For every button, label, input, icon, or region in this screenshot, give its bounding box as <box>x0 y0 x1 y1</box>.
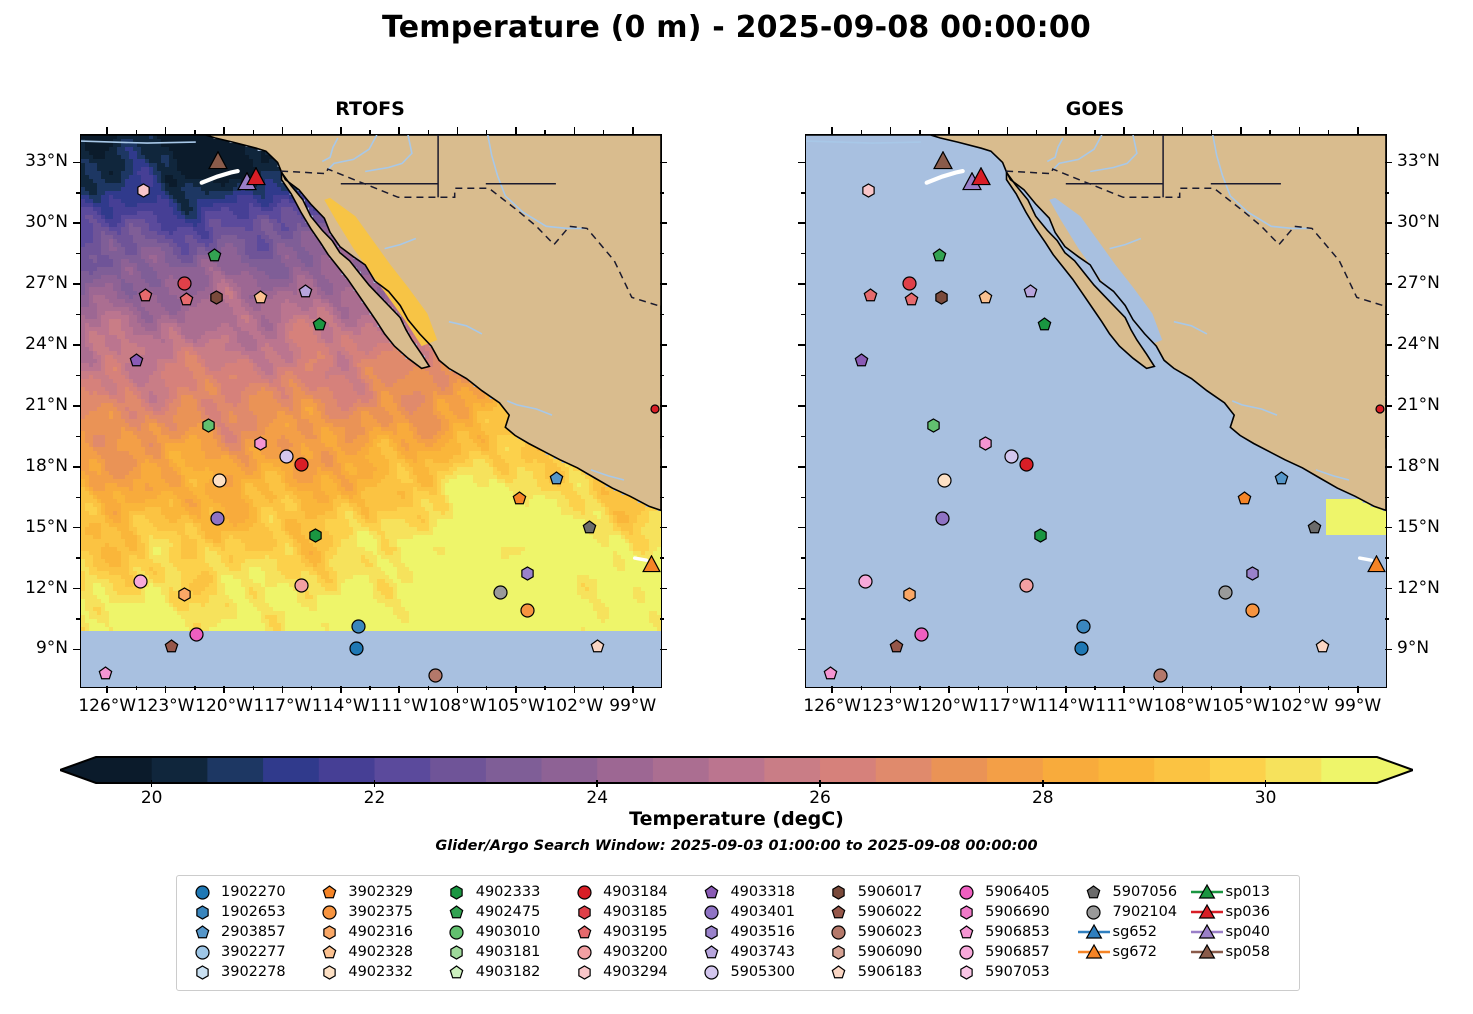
legend-column-9: sp013sp036sp040sp058 <box>1190 882 1292 984</box>
legend-symbol-5906405-icon <box>949 882 983 902</box>
colorbar-tick-label-20: 20 <box>141 788 163 808</box>
legend-label-2903857: 2903857 <box>221 924 286 940</box>
lat-tick-27 <box>73 283 80 285</box>
lon-tick--120 <box>948 686 950 693</box>
legend-item-5907056[interactable]: 5907056 <box>1077 882 1190 902</box>
legend-item-4902328[interactable]: 4902328 <box>312 942 439 962</box>
legend-label-4902333: 4902333 <box>476 884 541 900</box>
figure-title: Temperature (0 m) - 2025-09-08 00:00:00 <box>0 10 1473 45</box>
lon-tick-top--123 <box>890 127 892 134</box>
lat-tick-right-24 <box>1385 344 1392 346</box>
legend-column-8: 59070567902104sg652sg672 <box>1077 882 1190 984</box>
legend-column-5: 49033184903401490351649037435905300 <box>694 882 821 984</box>
legend-item-sp040[interactable]: sp040 <box>1190 922 1292 942</box>
lat-label-right-15: 15°N <box>1397 517 1473 537</box>
legend-label-1902270: 1902270 <box>221 884 286 900</box>
lon-tick--117 <box>1007 686 1009 693</box>
legend-label-sp058: sp058 <box>1226 944 1270 960</box>
legend-symbol-4903010-icon <box>440 922 474 942</box>
lon-tick-top--105 <box>515 127 517 134</box>
legend-item-5906022[interactable]: 5906022 <box>822 902 949 922</box>
legend-symbol-4902332-icon <box>312 962 346 982</box>
legend-symbol-5906690-icon <box>949 902 983 922</box>
lon-minor-tick <box>1153 686 1154 690</box>
lat-minor-tick <box>76 192 80 193</box>
lon-tick--105 <box>515 686 517 693</box>
lon-minor-tick <box>1328 686 1329 690</box>
lat-tick-21 <box>798 405 805 407</box>
colorbar-tick-label-22: 22 <box>364 788 386 808</box>
colorbar-tick-labels: 202224262830 <box>60 786 1413 808</box>
lon-tick-top--126 <box>831 127 833 134</box>
lat-minor-tick <box>660 497 664 498</box>
map-panel-goes[interactable] <box>805 134 1387 688</box>
lat-label-right-30: 30°N <box>1397 212 1473 232</box>
legend-symbol-4902316-icon <box>312 922 346 942</box>
lat-tick-right-33 <box>1385 162 1392 164</box>
legend-symbol-sg672-icon <box>1077 942 1111 962</box>
lon-tick--111 <box>1123 686 1125 693</box>
lat-tick-24 <box>798 344 805 346</box>
legend-label-5906405: 5906405 <box>985 884 1050 900</box>
legend-label-4903184: 4903184 <box>603 884 668 900</box>
legend-symbol-5907056-icon <box>1077 882 1111 902</box>
lat-tick-27 <box>798 283 805 285</box>
lat-minor-tick <box>76 557 80 558</box>
legend-symbol-2903857-icon <box>185 922 219 942</box>
map-panel-rtofs[interactable] <box>80 134 662 688</box>
lon-tick--120 <box>223 686 225 693</box>
lat-label-right-27: 27°N <box>1397 273 1473 293</box>
lat-tick-right-18 <box>660 466 667 468</box>
lon-tick--114 <box>340 686 342 693</box>
colorbar-tick-label-28: 28 <box>1032 788 1054 808</box>
legend-item-1902270[interactable]: 1902270 <box>185 882 312 902</box>
lon-minor-tick <box>1036 686 1037 690</box>
legend-item-3902375[interactable]: 3902375 <box>312 902 439 922</box>
lon-tick--123 <box>890 686 892 693</box>
legend-label-5905300: 5905300 <box>730 964 795 980</box>
lat-label-left-18: 18°N <box>0 456 68 476</box>
lon-tick--102 <box>574 686 576 693</box>
legend-symbol-4903181-icon <box>440 942 474 962</box>
lat-minor-tick <box>76 436 80 437</box>
legend-label-4902332: 4902332 <box>348 964 413 980</box>
glider-argo-legend[interactable]: 1902270190265329038573902277390227839023… <box>176 875 1300 991</box>
legend-label-4902475: 4902475 <box>476 904 541 920</box>
legend-symbol-5905300-icon <box>694 962 728 982</box>
legend-item-sg672[interactable]: sg672 <box>1077 942 1190 962</box>
lat-tick-12 <box>798 588 805 590</box>
lon-minor-tick <box>861 130 862 134</box>
lat-label-right-33: 33°N <box>1397 151 1473 171</box>
lon-label--99: 99°W <box>589 696 677 716</box>
lon-tick-top--117 <box>1007 127 1009 134</box>
legend-item-5906857[interactable]: 5906857 <box>949 942 1076 962</box>
legend-label-4903743: 4903743 <box>730 944 795 960</box>
lat-label-left-21: 21°N <box>0 395 68 415</box>
legend-label-5906183: 5906183 <box>858 964 923 980</box>
lat-label-left-9: 9°N <box>0 638 68 658</box>
lon-tick-top--111 <box>398 127 400 134</box>
legend-label-4903318: 4903318 <box>730 884 795 900</box>
lon-tick-top--102 <box>1299 127 1301 134</box>
legend-label-sp040: sp040 <box>1226 924 1270 940</box>
legend-symbol-sp036-icon <box>1190 902 1224 922</box>
legend-label-4903401: 4903401 <box>730 904 795 920</box>
legend-column-7: 59064055906690590685359068575907053 <box>949 882 1076 984</box>
lat-tick-21 <box>73 405 80 407</box>
legend-symbol-sp040-icon <box>1190 922 1224 942</box>
legend-symbol-1902653-icon <box>185 902 219 922</box>
legend-item-5906090[interactable]: 5906090 <box>822 942 949 962</box>
lon-minor-tick <box>194 130 195 134</box>
lon-tick-top--114 <box>340 127 342 134</box>
lat-minor-tick <box>660 253 664 254</box>
lat-minor-tick <box>76 253 80 254</box>
lon-minor-tick <box>311 686 312 690</box>
lat-minor-tick <box>660 375 664 376</box>
lon-tick--108 <box>457 686 459 693</box>
lat-minor-tick <box>660 436 664 437</box>
lat-tick-30 <box>798 222 805 224</box>
lon-tick--126 <box>106 686 108 693</box>
legend-item-4903200[interactable]: 4903200 <box>567 942 694 962</box>
legend-symbol-4902333-icon <box>440 882 474 902</box>
legend-symbol-4903200-icon <box>567 942 601 962</box>
legend-item-5906183[interactable]: 5906183 <box>822 962 949 982</box>
lon-tick-top--108 <box>1182 127 1184 134</box>
legend-symbol-5906090-icon <box>822 942 856 962</box>
lat-minor-tick <box>1385 618 1389 619</box>
lat-minor-tick <box>660 314 664 315</box>
lat-tick-18 <box>73 466 80 468</box>
legend-symbol-5906853-icon <box>949 922 983 942</box>
lat-label-right-9: 9°N <box>1397 638 1473 658</box>
lat-tick-right-30 <box>1385 222 1392 224</box>
legend-item-4903318[interactable]: 4903318 <box>694 882 821 902</box>
lat-minor-tick <box>801 436 805 437</box>
lon-minor-tick <box>861 686 862 690</box>
lat-minor-tick <box>76 314 80 315</box>
legend-label-4902316: 4902316 <box>348 924 413 940</box>
legend-symbol-4902328-icon <box>312 942 346 962</box>
lon-minor-tick <box>978 686 979 690</box>
legend-label-5906857: 5906857 <box>985 944 1050 960</box>
lon-minor-tick <box>1269 130 1270 134</box>
legend-label-5907053: 5907053 <box>985 964 1050 980</box>
legend-symbol-3902278-icon <box>185 962 219 982</box>
lon-tick-top--120 <box>223 127 225 134</box>
lat-tick-12 <box>73 588 80 590</box>
legend-label-4903185: 4903185 <box>603 904 668 920</box>
lat-tick-18 <box>798 466 805 468</box>
legend-symbol-4903516-icon <box>694 922 728 942</box>
lon-minor-tick <box>1036 130 1037 134</box>
lat-label-left-27: 27°N <box>0 273 68 293</box>
legend-column-1: 19022701902653290385739022773902278 <box>185 882 312 984</box>
lat-label-right-24: 24°N <box>1397 334 1473 354</box>
legend-symbol-4903743-icon <box>694 942 728 962</box>
legend-label-5906023: 5906023 <box>858 924 923 940</box>
lat-minor-tick <box>660 192 664 193</box>
colorbar-tick <box>596 780 598 787</box>
legend-symbol-4902475-icon <box>440 902 474 922</box>
lat-tick-30 <box>73 222 80 224</box>
lat-minor-tick <box>76 375 80 376</box>
lat-tick-right-30 <box>660 222 667 224</box>
lat-minor-tick <box>1385 192 1389 193</box>
legend-item-sp036[interactable]: sp036 <box>1190 902 1292 922</box>
legend-label-5907056: 5907056 <box>1113 884 1178 900</box>
lat-label-left-30: 30°N <box>0 212 68 232</box>
lat-tick-right-24 <box>660 344 667 346</box>
legend-item-5905300[interactable]: 5905300 <box>694 962 821 982</box>
search-window-text: Glider/Argo Search Window: 2025-09-03 01… <box>0 838 1473 854</box>
lon-tick-top--120 <box>948 127 950 134</box>
legend-item-5906017[interactable]: 5906017 <box>822 882 949 902</box>
legend-label-5906690: 5906690 <box>985 904 1050 920</box>
panel-title-goes: GOES <box>805 98 1385 120</box>
legend-label-3902329: 3902329 <box>348 884 413 900</box>
legend-label-sg672: sg672 <box>1113 944 1157 960</box>
legend-item-3902278[interactable]: 3902278 <box>185 962 312 982</box>
legend-label-5906017: 5906017 <box>858 884 923 900</box>
lat-minor-tick <box>660 557 664 558</box>
lat-tick-33 <box>73 162 80 164</box>
legend-item-4902475[interactable]: 4902475 <box>440 902 567 922</box>
legend-symbol-3902329-icon <box>312 882 346 902</box>
lat-tick-right-12 <box>1385 588 1392 590</box>
lon-tick--99 <box>1357 686 1359 693</box>
legend-item-4903195[interactable]: 4903195 <box>567 922 694 942</box>
lat-minor-tick <box>801 618 805 619</box>
legend-item-4903010[interactable]: 4903010 <box>440 922 567 942</box>
legend-symbol-4903195-icon <box>567 922 601 942</box>
lat-minor-tick <box>660 618 664 619</box>
legend-label-4903294: 4903294 <box>603 964 668 980</box>
lon-tick-top--123 <box>165 127 167 134</box>
lon-minor-tick <box>253 686 254 690</box>
legend-item-4903294[interactable]: 4903294 <box>567 962 694 982</box>
lat-label-right-21: 21°N <box>1397 395 1473 415</box>
legend-item-4903185[interactable]: 4903185 <box>567 902 694 922</box>
legend-symbol-4903294-icon <box>567 962 601 982</box>
lat-minor-tick <box>1385 557 1389 558</box>
legend-item-4902332[interactable]: 4902332 <box>312 962 439 982</box>
legend-label-3902375: 3902375 <box>348 904 413 920</box>
lon-minor-tick <box>428 686 429 690</box>
legend-item-4903181[interactable]: 4903181 <box>440 942 567 962</box>
lon-minor-tick <box>1269 686 1270 690</box>
lat-label-left-24: 24°N <box>0 334 68 354</box>
legend-label-4903195: 4903195 <box>603 924 668 940</box>
lat-label-right-18: 18°N <box>1397 456 1473 476</box>
legend-item-sp058[interactable]: sp058 <box>1190 942 1292 962</box>
lat-tick-right-15 <box>1385 527 1392 529</box>
legend-symbol-7902104-icon <box>1077 902 1111 922</box>
lon-minor-tick <box>311 130 312 134</box>
lat-label-left-15: 15°N <box>0 517 68 537</box>
legend-label-3902277: 3902277 <box>221 944 286 960</box>
lon-minor-tick <box>978 130 979 134</box>
legend-label-5906090: 5906090 <box>858 944 923 960</box>
legend-item-4903743[interactable]: 4903743 <box>694 942 821 962</box>
lon-minor-tick <box>253 130 254 134</box>
legend-symbol-5906022-icon <box>822 902 856 922</box>
lat-minor-tick <box>801 253 805 254</box>
legend-label-7902104: 7902104 <box>1113 904 1178 920</box>
lat-minor-tick <box>801 314 805 315</box>
lon-tick-top--111 <box>1123 127 1125 134</box>
lat-minor-tick <box>801 557 805 558</box>
lat-tick-9 <box>73 649 80 651</box>
legend-item-5906405[interactable]: 5906405 <box>949 882 1076 902</box>
lat-minor-tick <box>801 375 805 376</box>
lat-minor-tick <box>76 497 80 498</box>
legend-label-4903516: 4903516 <box>730 924 795 940</box>
lon-tick--114 <box>1065 686 1067 693</box>
lat-minor-tick <box>1385 375 1389 376</box>
legend-label-1902653: 1902653 <box>221 904 286 920</box>
lat-tick-right-27 <box>1385 283 1392 285</box>
lon-tick-top--102 <box>574 127 576 134</box>
legend-column-3: 49023334902475490301049031814903182 <box>440 882 567 984</box>
legend-label-5906853: 5906853 <box>985 924 1050 940</box>
legend-item-7902104[interactable]: 7902104 <box>1077 902 1190 922</box>
legend-item-4902316[interactable]: 4902316 <box>312 922 439 942</box>
lat-minor-tick <box>1385 314 1389 315</box>
lat-tick-right-27 <box>660 283 667 285</box>
lon-minor-tick <box>1211 130 1212 134</box>
lat-minor-tick <box>1385 253 1389 254</box>
legend-item-3902329[interactable]: 3902329 <box>312 882 439 902</box>
legend-symbol-4903185-icon <box>567 902 601 922</box>
colorbar-tick <box>374 780 376 787</box>
lon-minor-tick <box>603 686 604 690</box>
legend-symbol-sg652-icon <box>1077 922 1111 942</box>
lon-minor-tick <box>369 130 370 134</box>
lon-minor-tick <box>919 130 920 134</box>
legend-item-5906690[interactable]: 5906690 <box>949 902 1076 922</box>
lon-tick--108 <box>1182 686 1184 693</box>
lat-minor-tick <box>801 497 805 498</box>
panel-title-rtofs: RTOFS <box>80 98 660 120</box>
lat-tick-33 <box>798 162 805 164</box>
lon-tick-top--117 <box>282 127 284 134</box>
lat-tick-9 <box>798 649 805 651</box>
legend-item-1902653[interactable]: 1902653 <box>185 902 312 922</box>
lon-tick-top--99 <box>1357 127 1359 134</box>
legend-symbol-4903318-icon <box>694 882 728 902</box>
lon-minor-tick <box>1094 686 1095 690</box>
lon-minor-tick <box>919 686 920 690</box>
lat-tick-right-18 <box>1385 466 1392 468</box>
legend-symbol-5906023-icon <box>822 922 856 942</box>
colorbar <box>60 755 1413 785</box>
legend-symbol-5906857-icon <box>949 942 983 962</box>
lon-tick-top--105 <box>1240 127 1242 134</box>
colorbar-tick <box>819 780 821 787</box>
legend-label-sp036: sp036 <box>1226 904 1270 920</box>
lon-minor-tick <box>603 130 604 134</box>
legend-symbol-1902270-icon <box>185 882 219 902</box>
lat-minor-tick <box>1385 436 1389 437</box>
lon-tick--123 <box>165 686 167 693</box>
lon-tick--117 <box>282 686 284 693</box>
legend-item-4903182[interactable]: 4903182 <box>440 962 567 982</box>
colorbar-tick-label-30: 30 <box>1255 788 1277 808</box>
lon-minor-tick <box>136 686 137 690</box>
legend-symbol-4903182-icon <box>440 962 474 982</box>
lat-tick-right-9 <box>1385 649 1392 651</box>
legend-item-4903184[interactable]: 4903184 <box>567 882 694 902</box>
legend-item-4903401[interactable]: 4903401 <box>694 902 821 922</box>
lon-minor-tick <box>428 130 429 134</box>
legend-label-4903010: 4903010 <box>476 924 541 940</box>
legend-label-sp013: sp013 <box>1226 884 1270 900</box>
lon-tick--102 <box>1299 686 1301 693</box>
legend-label-4903182: 4903182 <box>476 964 541 980</box>
legend-item-2903857[interactable]: 2903857 <box>185 922 312 942</box>
lon-label--99: 99°W <box>1314 696 1402 716</box>
legend-column-6: 59060175906022590602359060905906183 <box>822 882 949 984</box>
lat-tick-15 <box>798 527 805 529</box>
legend-label-sg652: sg652 <box>1113 924 1157 940</box>
legend-label-4902328: 4902328 <box>348 944 413 960</box>
lat-tick-15 <box>73 527 80 529</box>
lat-label-right-12: 12°N <box>1397 578 1473 598</box>
legend-label-4903200: 4903200 <box>603 944 668 960</box>
lat-minor-tick <box>1385 497 1389 498</box>
lon-tick-top--114 <box>1065 127 1067 134</box>
lat-tick-right-15 <box>660 527 667 529</box>
legend-symbol-sp058-icon <box>1190 942 1224 962</box>
legend-item-sg652[interactable]: sg652 <box>1077 922 1190 942</box>
lon-minor-tick <box>1328 130 1329 134</box>
lat-minor-tick <box>801 192 805 193</box>
lat-tick-right-12 <box>660 588 667 590</box>
colorbar-tick <box>1042 780 1044 787</box>
legend-item-5906023[interactable]: 5906023 <box>822 922 949 942</box>
lat-tick-right-33 <box>660 162 667 164</box>
lat-tick-right-9 <box>660 649 667 651</box>
lon-tick--111 <box>398 686 400 693</box>
lon-tick--126 <box>831 686 833 693</box>
legend-item-5906853[interactable]: 5906853 <box>949 922 1076 942</box>
legend-item-4902333[interactable]: 4902333 <box>440 882 567 902</box>
legend-symbol-3902277-icon <box>185 942 219 962</box>
legend-label-3902278: 3902278 <box>221 964 286 980</box>
legend-symbol-4903401-icon <box>694 902 728 922</box>
legend-item-sp013[interactable]: sp013 <box>1190 882 1292 902</box>
lat-tick-right-21 <box>660 405 667 407</box>
legend-label-5906022: 5906022 <box>858 904 923 920</box>
lon-minor-tick <box>136 130 137 134</box>
lon-minor-tick <box>194 686 195 690</box>
legend-item-4903516[interactable]: 4903516 <box>694 922 821 942</box>
lat-label-left-12: 12°N <box>0 578 68 598</box>
colorbar-tick <box>1265 780 1267 787</box>
lon-minor-tick <box>1153 130 1154 134</box>
lon-tick-top--126 <box>106 127 108 134</box>
legend-item-5907053[interactable]: 5907053 <box>949 962 1076 982</box>
lon-minor-tick <box>1211 686 1212 690</box>
lon-tick--105 <box>1240 686 1242 693</box>
colorbar-tick-label-26: 26 <box>809 788 831 808</box>
legend-item-3902277[interactable]: 3902277 <box>185 942 312 962</box>
legend-symbol-sp013-icon <box>1190 882 1224 902</box>
